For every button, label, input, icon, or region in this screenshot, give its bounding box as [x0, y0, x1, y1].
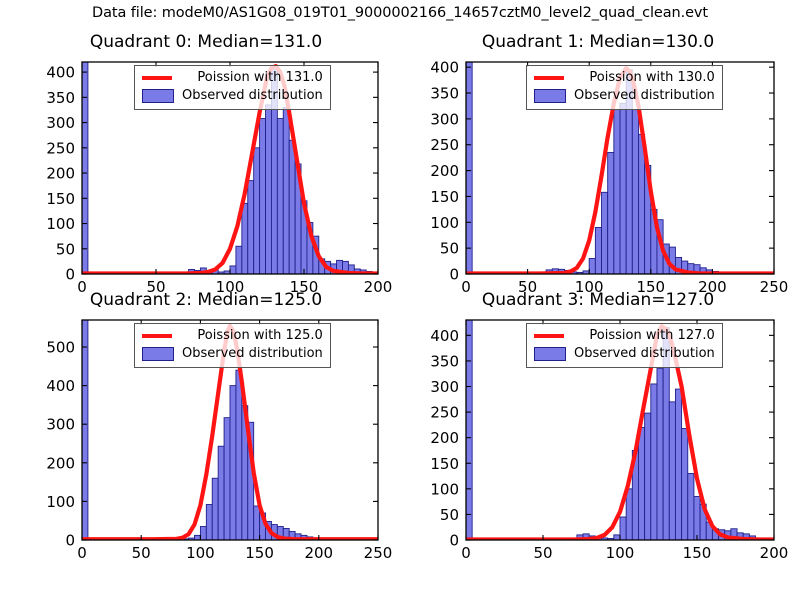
- svg-text:0: 0: [65, 266, 75, 284]
- legend-quadrant-0[interactable]: Poission with 131.0Observed distribution: [134, 65, 331, 110]
- svg-text:100: 100: [46, 215, 75, 233]
- svg-text:200: 200: [430, 162, 459, 180]
- legend-label-observed: Observed distribution: [574, 87, 715, 105]
- svg-text:0: 0: [461, 544, 471, 562]
- legend-label-observed: Observed distribution: [182, 87, 323, 105]
- svg-text:200: 200: [304, 544, 333, 562]
- svg-text:150: 150: [245, 544, 274, 562]
- figure-canvas: Data file: modeM0/AS1G08_019T01_90000021…: [0, 0, 800, 600]
- svg-text:500: 500: [46, 339, 75, 357]
- svg-text:300: 300: [46, 114, 75, 132]
- subplot-quadrant-3: Quadrant 3: Median=127.00501001502000501…: [408, 288, 788, 568]
- svg-text:400: 400: [430, 327, 459, 345]
- legend-bar-swatch-icon: [534, 347, 566, 361]
- svg-text:350: 350: [430, 85, 459, 103]
- legend-entry-poisson: Poission with 127.0: [534, 327, 715, 345]
- svg-text:250: 250: [430, 136, 459, 154]
- legend-entry-observed: Observed distribution: [142, 345, 323, 363]
- svg-text:50: 50: [56, 240, 75, 258]
- legend-entry-poisson: Poission with 125.0: [142, 327, 323, 345]
- svg-text:100: 100: [46, 493, 75, 511]
- svg-text:250: 250: [430, 404, 459, 422]
- legend-line-swatch-icon: [534, 334, 564, 338]
- svg-text:350: 350: [46, 89, 75, 107]
- svg-text:50: 50: [132, 544, 151, 562]
- svg-text:0: 0: [65, 532, 75, 550]
- svg-text:350: 350: [430, 352, 459, 370]
- legend-entry-poisson: Poission with 131.0: [142, 69, 323, 87]
- svg-text:150: 150: [683, 544, 712, 562]
- figure-suptitle: Data file: modeM0/AS1G08_019T01_90000021…: [0, 5, 800, 21]
- svg-text:300: 300: [46, 416, 75, 434]
- subplot-quadrant-0: Quadrant 0: Median=131.00501001502000501…: [20, 30, 392, 302]
- svg-text:200: 200: [46, 165, 75, 183]
- legend-label-poisson: Poission with 125.0: [180, 327, 323, 345]
- svg-text:400: 400: [46, 64, 75, 82]
- legend-line-swatch-icon: [534, 76, 564, 80]
- svg-text:50: 50: [440, 240, 459, 258]
- svg-text:100: 100: [430, 214, 459, 232]
- svg-text:250: 250: [46, 139, 75, 157]
- legend-quadrant-1[interactable]: Poission with 130.0Observed distribution: [526, 65, 723, 110]
- svg-text:150: 150: [430, 188, 459, 206]
- svg-text:0: 0: [449, 266, 459, 284]
- svg-text:300: 300: [430, 378, 459, 396]
- svg-text:0: 0: [449, 532, 459, 550]
- svg-text:150: 150: [430, 455, 459, 473]
- legend-label-observed: Observed distribution: [182, 345, 323, 363]
- subplot-quadrant-1: Quadrant 1: Median=130.00501001502002500…: [408, 30, 788, 302]
- legend-quadrant-3[interactable]: Poission with 127.0Observed distribution: [526, 323, 723, 368]
- legend-entry-poisson: Poission with 130.0: [534, 69, 715, 87]
- svg-text:0: 0: [77, 544, 87, 562]
- svg-text:50: 50: [440, 506, 459, 524]
- legend-label-observed: Observed distribution: [574, 345, 715, 363]
- svg-text:150: 150: [46, 190, 75, 208]
- svg-text:200: 200: [430, 429, 459, 447]
- legend-label-poisson: Poission with 131.0: [180, 69, 323, 87]
- legend-label-poisson: Poission with 130.0: [572, 69, 715, 87]
- legend-entry-observed: Observed distribution: [534, 345, 715, 363]
- legend-bar-swatch-icon: [534, 89, 566, 103]
- legend-line-swatch-icon: [142, 76, 172, 80]
- legend-line-swatch-icon: [142, 334, 172, 338]
- svg-text:250: 250: [364, 544, 393, 562]
- legend-bar-swatch-icon: [142, 347, 174, 361]
- svg-text:200: 200: [760, 544, 789, 562]
- legend-label-poisson: Poission with 127.0: [572, 327, 715, 345]
- svg-text:100: 100: [186, 544, 215, 562]
- subplot-quadrant-2: Quadrant 2: Median=125.00501001502002500…: [20, 288, 392, 568]
- svg-text:100: 100: [606, 544, 635, 562]
- legend-quadrant-2[interactable]: Poission with 125.0Observed distribution: [134, 323, 331, 368]
- svg-text:50: 50: [533, 544, 552, 562]
- legend-entry-observed: Observed distribution: [534, 87, 715, 105]
- svg-text:400: 400: [46, 377, 75, 395]
- svg-text:400: 400: [430, 59, 459, 77]
- legend-bar-swatch-icon: [142, 89, 174, 103]
- svg-text:200: 200: [46, 454, 75, 472]
- svg-text:100: 100: [430, 480, 459, 498]
- svg-text:300: 300: [430, 110, 459, 128]
- legend-entry-observed: Observed distribution: [142, 87, 323, 105]
